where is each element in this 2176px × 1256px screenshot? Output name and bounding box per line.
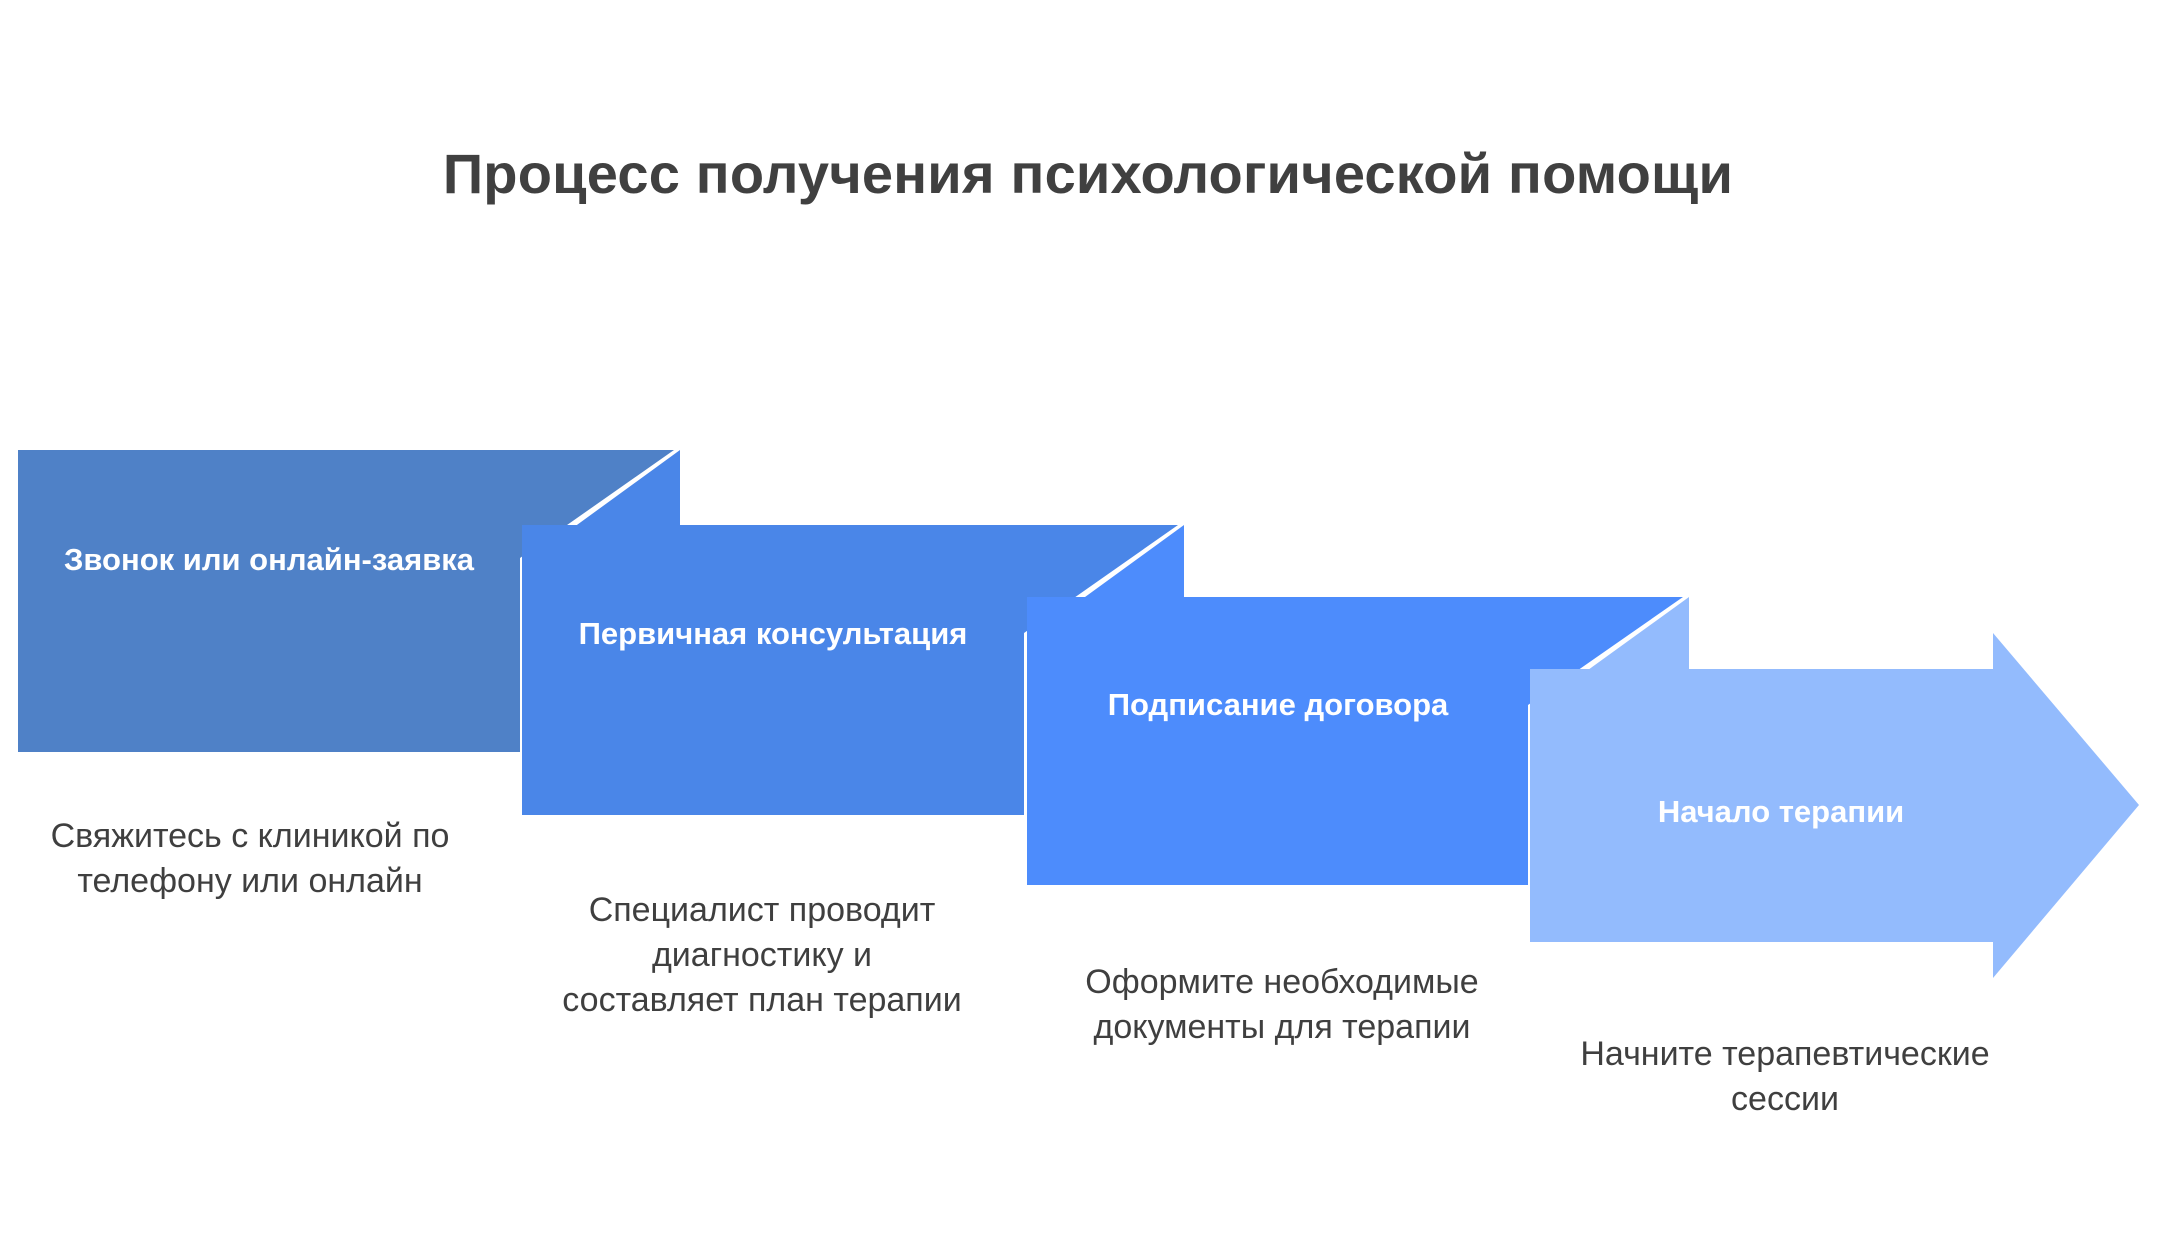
step-3-caption: Оформите необходимые документы для терап…	[1082, 960, 1482, 1050]
step-2-caption: Специалист проводит диагностику и состав…	[560, 888, 964, 1024]
process-flow-diagram: Звонок или онлайн-заявка Первичная консу…	[0, 0, 2176, 1256]
step-3-title: Подписание договора	[1027, 685, 1529, 726]
step-1-caption: Свяжитесь с клиникой по телефону или онл…	[50, 814, 450, 904]
step-1-title: Звонок или онлайн-заявка	[18, 540, 520, 581]
step-4-title: Начало терапии	[1530, 792, 2032, 833]
step-4-caption: Начните терапевтические сессии	[1575, 1032, 1995, 1122]
step-2-title: Первичная консультация	[522, 614, 1024, 655]
